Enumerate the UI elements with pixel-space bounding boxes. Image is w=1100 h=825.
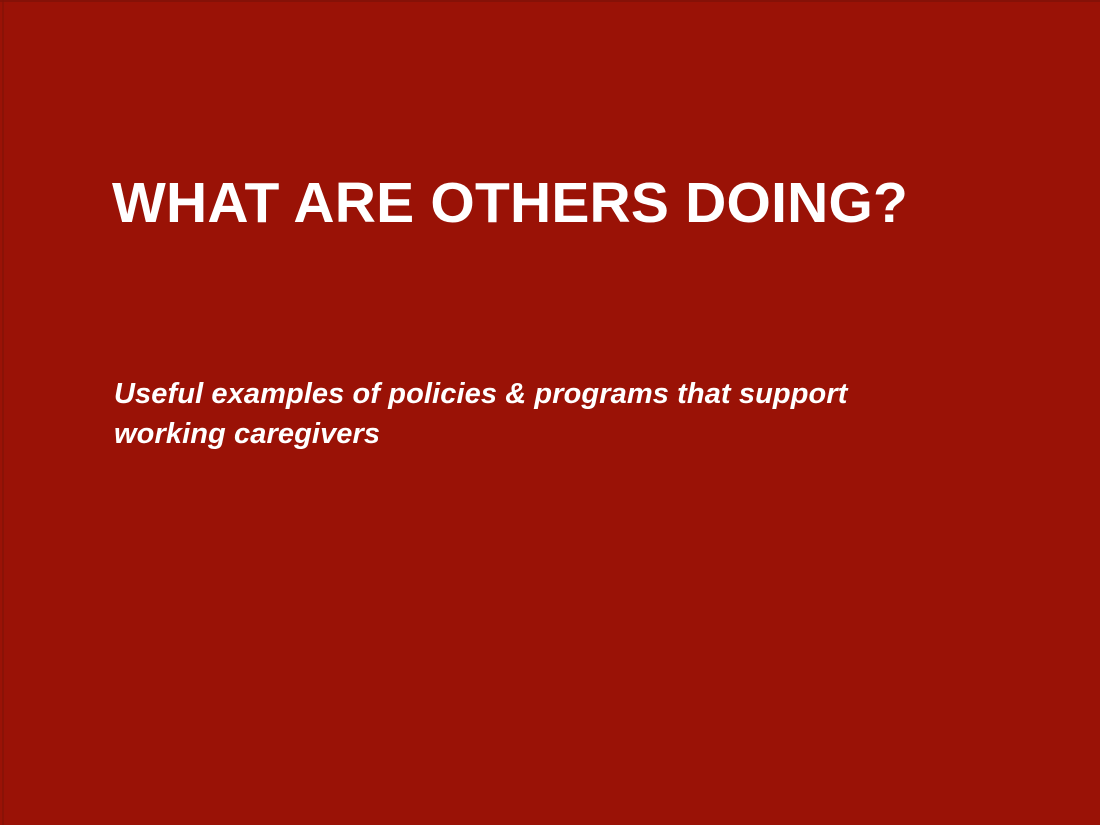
slide-subtitle: Useful examples of policies & programs t… [114, 374, 854, 454]
slide-top-edge-line [0, 0, 1100, 2]
slide-body-empty-area [0, 470, 1100, 825]
slide-title: WHAT ARE OTHERS DOING? [112, 172, 1012, 234]
title-placeholder: WHAT ARE OTHERS DOING? [112, 172, 1012, 234]
presentation-slide: WHAT ARE OTHERS DOING? Useful examples o… [0, 0, 1100, 825]
subtitle-placeholder: Useful examples of policies & programs t… [114, 374, 854, 454]
